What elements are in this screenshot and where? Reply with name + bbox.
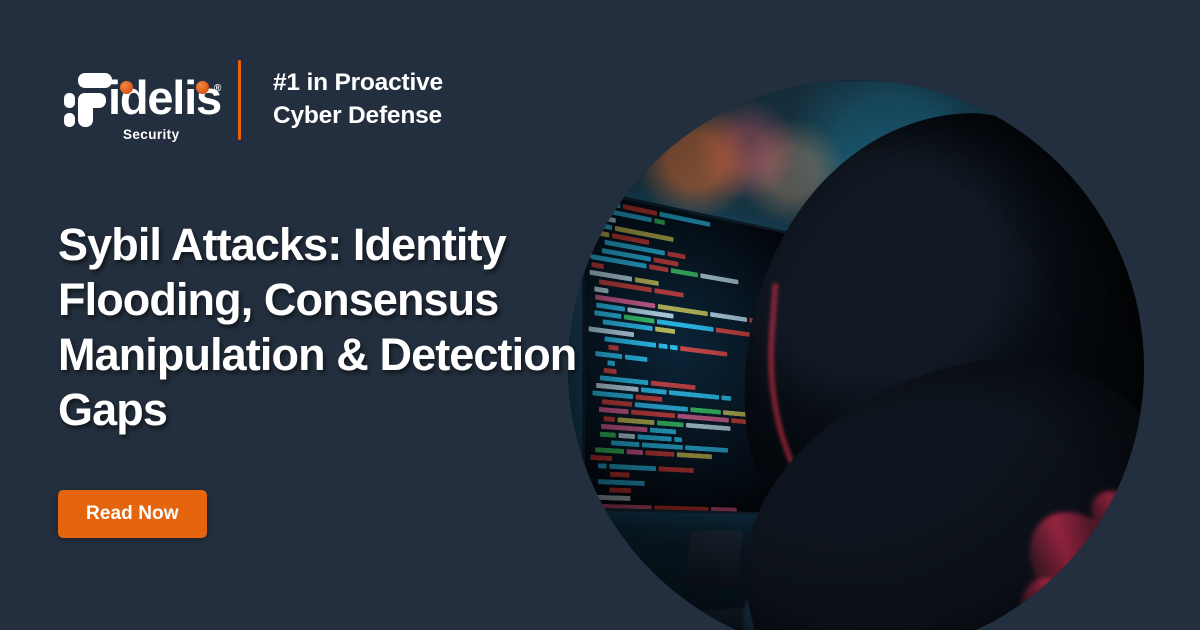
f-block-stem — [78, 93, 93, 127]
logo-wordmark: idelis — [108, 69, 221, 127]
logo-sub-label: Security — [123, 127, 179, 142]
f-block-left-middle — [64, 93, 75, 108]
hero-image-circle — [568, 80, 1144, 630]
promo-banner: idelis ® Security #1 in Proactive Cyber … — [0, 0, 1200, 630]
brand-header: idelis ® Security #1 in Proactive Cyber … — [64, 60, 443, 140]
hero-image — [568, 80, 1144, 630]
brand-tagline: #1 in Proactive Cyber Defense — [273, 67, 443, 132]
tagline-line-2: Cyber Defense — [273, 100, 443, 133]
logo-dot-icon — [196, 81, 209, 94]
logo-dot-icon — [120, 81, 133, 94]
registered-trademark-icon: ® — [214, 83, 221, 94]
monitor-stand — [685, 531, 743, 587]
fidelis-logo[interactable]: idelis ® Security — [64, 69, 216, 131]
tagline-line-1: #1 in Proactive — [273, 67, 443, 100]
read-now-button[interactable]: Read Now — [58, 490, 207, 538]
fidelis-f-mark-icon — [64, 73, 112, 127]
header-divider — [238, 60, 241, 140]
page-title: Sybil Attacks: Identity Flooding, Consen… — [58, 218, 618, 438]
f-block-left-bottom — [64, 113, 75, 127]
logo-wordmark-row: idelis ® — [64, 69, 216, 131]
f-block-top — [78, 73, 112, 88]
